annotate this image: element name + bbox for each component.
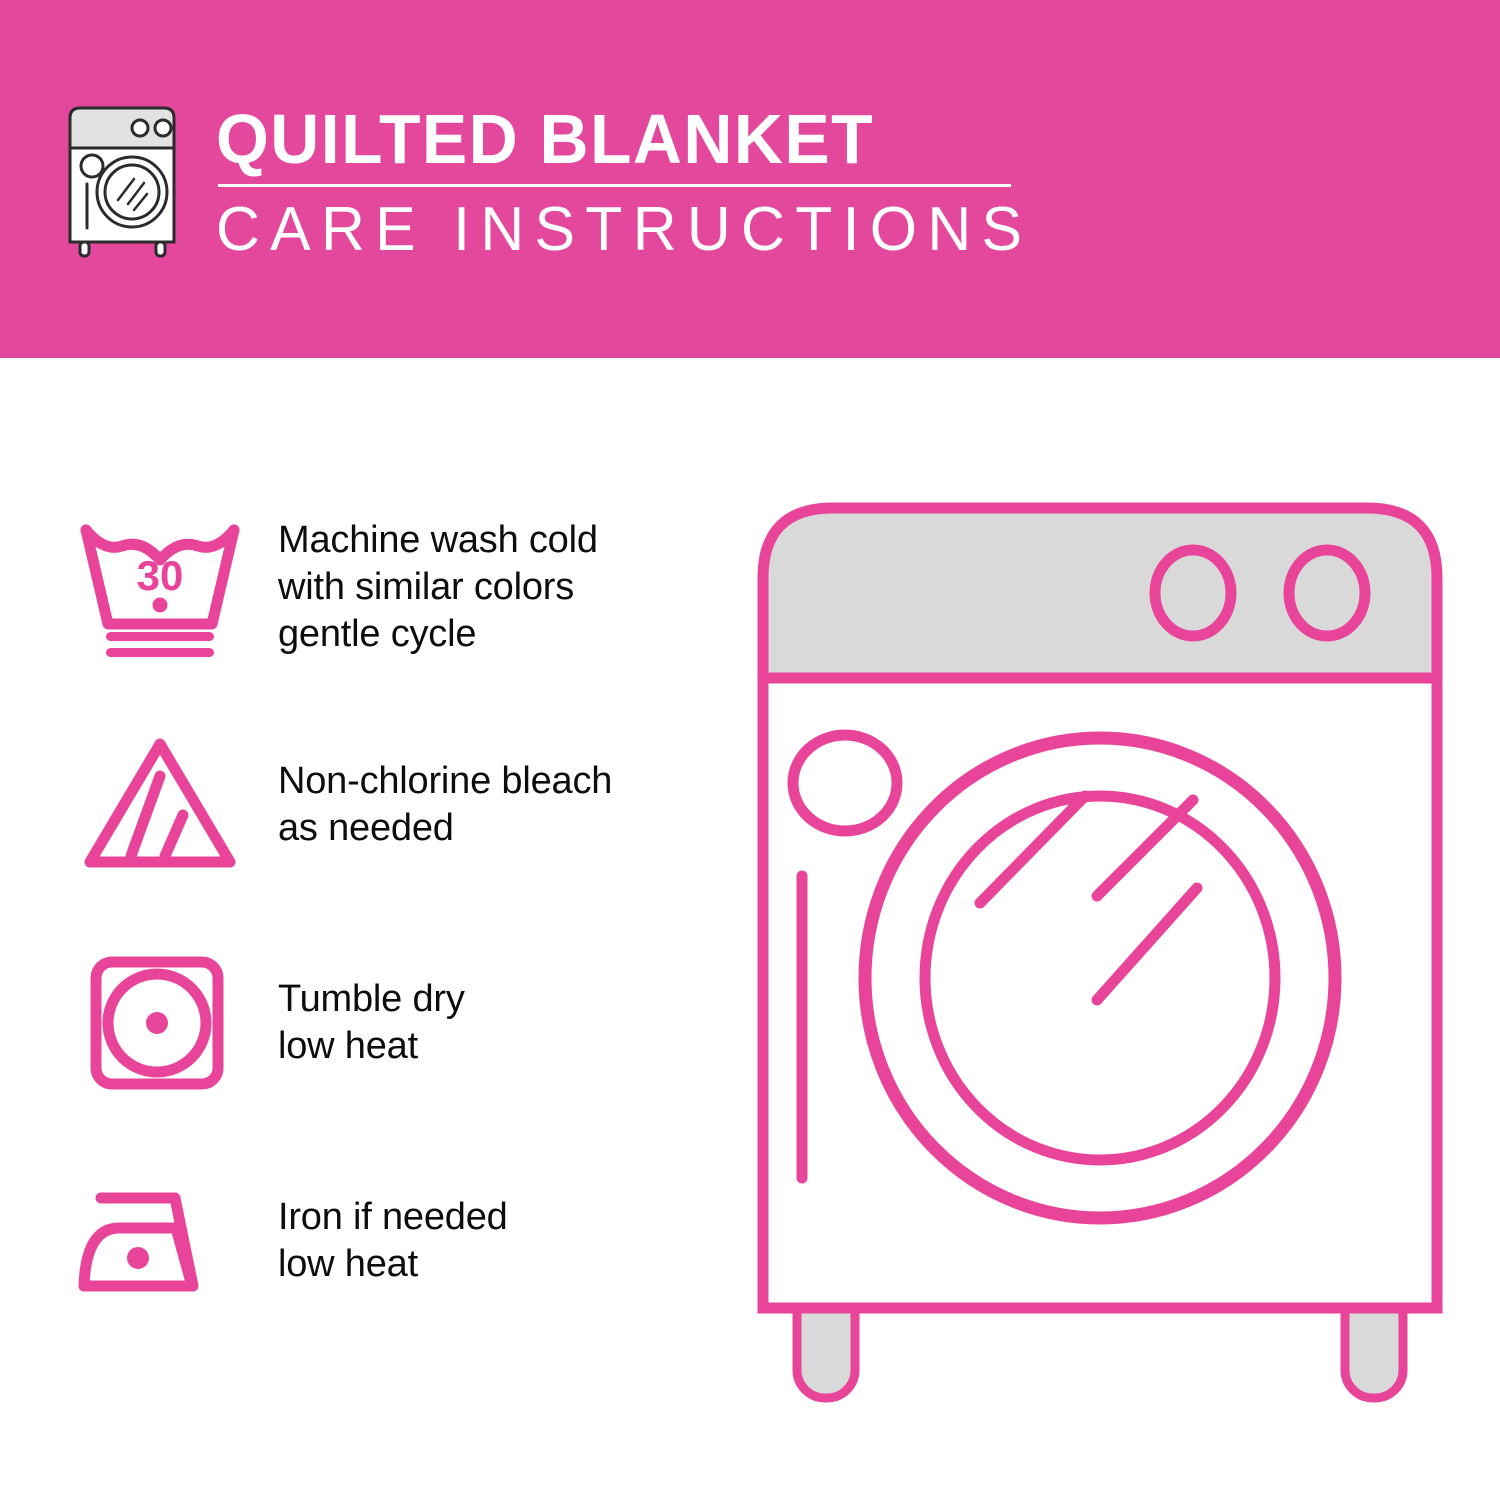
care-line: Machine wash cold xyxy=(278,517,598,564)
non-chlorine-bleach-triangle-icon xyxy=(70,725,250,885)
care-line: low heat xyxy=(278,1023,465,1070)
care-line: gentle cycle xyxy=(278,611,598,658)
care-line: Tumble dry xyxy=(278,976,465,1023)
care-label-bleach: Non-chlorine bleach as needed xyxy=(278,758,612,852)
washing-machine-icon xyxy=(62,100,188,260)
care-line: Iron if needed xyxy=(278,1194,508,1241)
title-divider xyxy=(218,184,1011,187)
header-banner: QUILTED BLANKET CARE INSTRUCTIONS xyxy=(0,0,1500,358)
header-titles: QUILTED BLANKET CARE INSTRUCTIONS xyxy=(216,100,1016,263)
care-line: Non-chlorine bleach xyxy=(278,758,612,805)
page-subtitle: CARE INSTRUCTIONS xyxy=(216,197,1000,263)
header-content: QUILTED BLANKET CARE INSTRUCTIONS xyxy=(62,100,1016,263)
wash-temperature-label: 30 xyxy=(137,552,184,599)
care-row-bleach: Non-chlorine bleach as needed xyxy=(70,716,710,894)
content-area: 30 Machine wash cold with similar colors… xyxy=(0,358,1500,1500)
iron-low-heat-icon xyxy=(70,1161,250,1321)
tumble-dry-low-icon xyxy=(70,943,250,1103)
care-line: low heat xyxy=(278,1241,508,1288)
care-line: with similar colors xyxy=(278,564,598,611)
care-label-iron: Iron if needed low heat xyxy=(278,1194,508,1288)
care-row-iron: Iron if needed low heat xyxy=(70,1152,710,1330)
care-label-tumble-dry: Tumble dry low heat xyxy=(278,976,465,1070)
care-label-wash: Machine wash cold with similar colors ge… xyxy=(278,517,598,658)
page-title: QUILTED BLANKET xyxy=(216,100,992,178)
care-instructions-list: 30 Machine wash cold with similar colors… xyxy=(70,498,710,1330)
care-line: as needed xyxy=(278,805,612,852)
care-row-tumble-dry: Tumble dry low heat xyxy=(70,934,710,1112)
washing-machine-illustration xyxy=(745,488,1455,1438)
wash-tub-30-icon: 30 xyxy=(70,507,250,667)
care-row-wash: 30 Machine wash cold with similar colors… xyxy=(70,498,710,676)
